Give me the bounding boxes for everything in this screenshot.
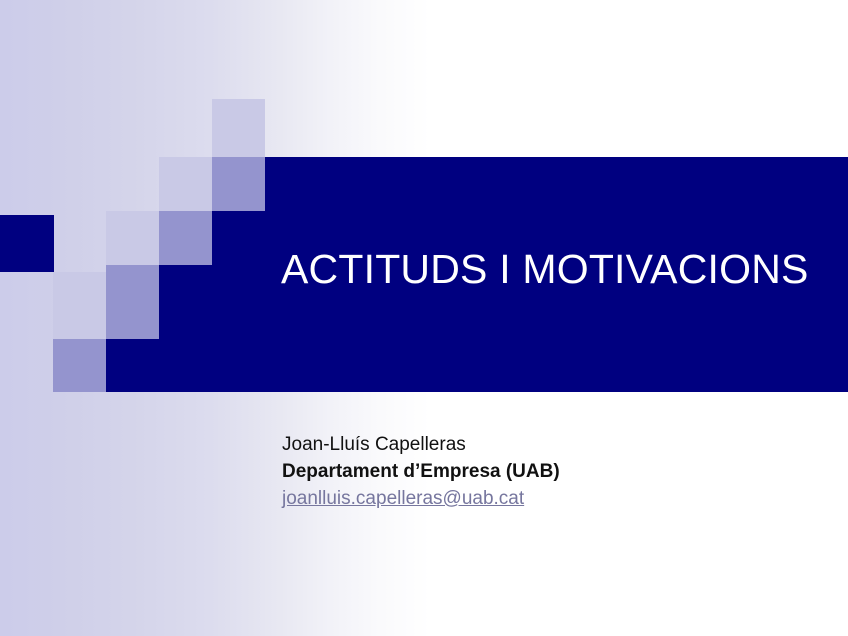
decor-square-light-2: [159, 157, 212, 211]
decor-square-mid-2: [159, 211, 212, 265]
slide-subtitle-block: Joan-Lluís Capelleras Departament d’Empr…: [282, 431, 752, 512]
author-name: Joan-Lluís Capelleras: [282, 431, 752, 458]
navy-banner-step-1: [265, 157, 848, 211]
navy-accent-square: [0, 215, 54, 272]
decor-square-mid-1: [212, 157, 265, 211]
email-link[interactable]: joanlluis.capelleras@uab.cat: [282, 485, 524, 512]
decor-square-light-4: [53, 272, 106, 339]
presentation-slide: ACTITUDS I MOTIVACIONS Joan-Lluís Capell…: [0, 0, 848, 636]
decor-square-light-3: [106, 211, 159, 265]
decor-square-mid-3: [106, 265, 159, 339]
navy-banner-step-4: [106, 339, 848, 392]
slide-title: ACTITUDS I MOTIVACIONS: [281, 245, 821, 293]
department-name: Departament d’Empresa (UAB): [282, 458, 752, 485]
decor-square-mid-4: [53, 339, 106, 392]
decor-square-light-1: [212, 99, 265, 157]
